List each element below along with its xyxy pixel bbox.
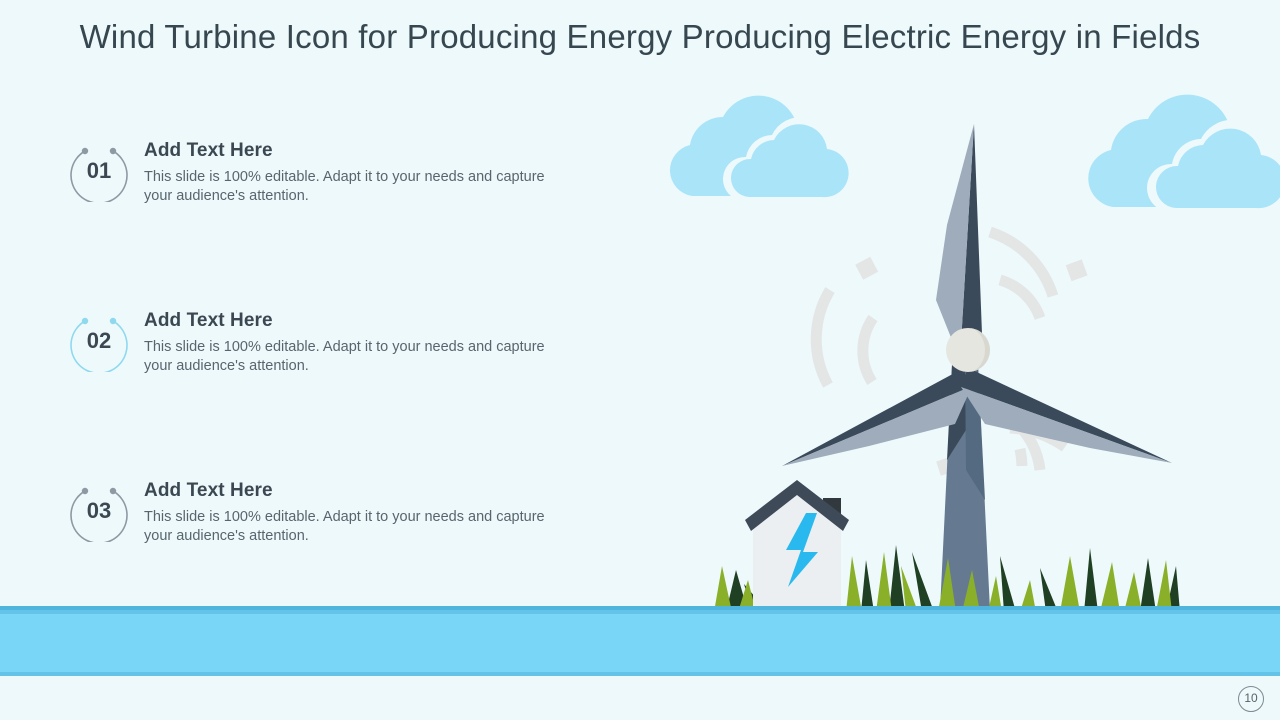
bullet-number-03: 03 <box>68 480 130 542</box>
bullet-text-01: Add Text Here This slide is 100% editabl… <box>144 140 564 206</box>
bullet-heading-02: Add Text Here <box>144 310 564 332</box>
bullet-number-02: 02 <box>68 310 130 372</box>
motion-arcs-icon <box>816 290 873 385</box>
bullet-item-01[interactable]: 01 Add Text Here This slide is 100% edit… <box>68 140 568 240</box>
cloud-right-icon <box>1088 95 1280 212</box>
bullet-item-03[interactable]: 03 Add Text Here This slide is 100% edit… <box>68 480 568 580</box>
band-top-edge <box>0 610 1280 614</box>
bottom-water-band <box>0 610 1280 676</box>
turbine-hub-icon <box>946 328 990 372</box>
turbine-tower-icon <box>940 365 990 610</box>
bullet-text-03: Add Text Here This slide is 100% editabl… <box>144 480 564 546</box>
page-number-badge: 10 <box>1238 686 1264 712</box>
bullet-marker-02: 02 <box>68 310 130 372</box>
bullet-number-01: 01 <box>68 140 130 202</box>
motion-arc-lower-strokes <box>1010 428 1065 447</box>
motion-arc-accents-right <box>1066 259 1088 281</box>
motion-arcs-lower-icon <box>1014 421 1040 470</box>
motion-arc-accents-lower <box>936 457 955 476</box>
slide-canvas: Wind Turbine Icon for Producing Energy P… <box>0 0 1280 720</box>
motion-arc-accents-left <box>855 257 878 280</box>
turbine-blade-right <box>961 368 1172 463</box>
page-title: Wind Turbine Icon for Producing Energy P… <box>0 18 1280 56</box>
bullet-text-02: Add Text Here This slide is 100% editabl… <box>144 310 564 376</box>
bullet-item-02[interactable]: 02 Add Text Here This slide is 100% edit… <box>68 310 568 410</box>
grass-icon <box>714 545 1180 612</box>
bullet-marker-01: 01 <box>68 140 130 202</box>
bullet-heading-03: Add Text Here <box>144 480 564 502</box>
bullet-heading-01: Add Text Here <box>144 140 564 162</box>
bullet-body-01: This slide is 100% editable. Adapt it to… <box>144 168 564 206</box>
turbine-blade-left <box>782 369 972 466</box>
cloud-left-icon <box>670 96 856 201</box>
bullet-body-03: This slide is 100% editable. Adapt it to… <box>144 508 564 546</box>
motion-arcs-right-icon <box>990 232 1053 318</box>
band-bottom-edge <box>0 672 1280 676</box>
house-icon <box>745 480 849 612</box>
bullet-body-02: This slide is 100% editable. Adapt it to… <box>144 338 564 376</box>
bullet-marker-03: 03 <box>68 480 130 542</box>
turbine-blade-top <box>936 124 983 360</box>
